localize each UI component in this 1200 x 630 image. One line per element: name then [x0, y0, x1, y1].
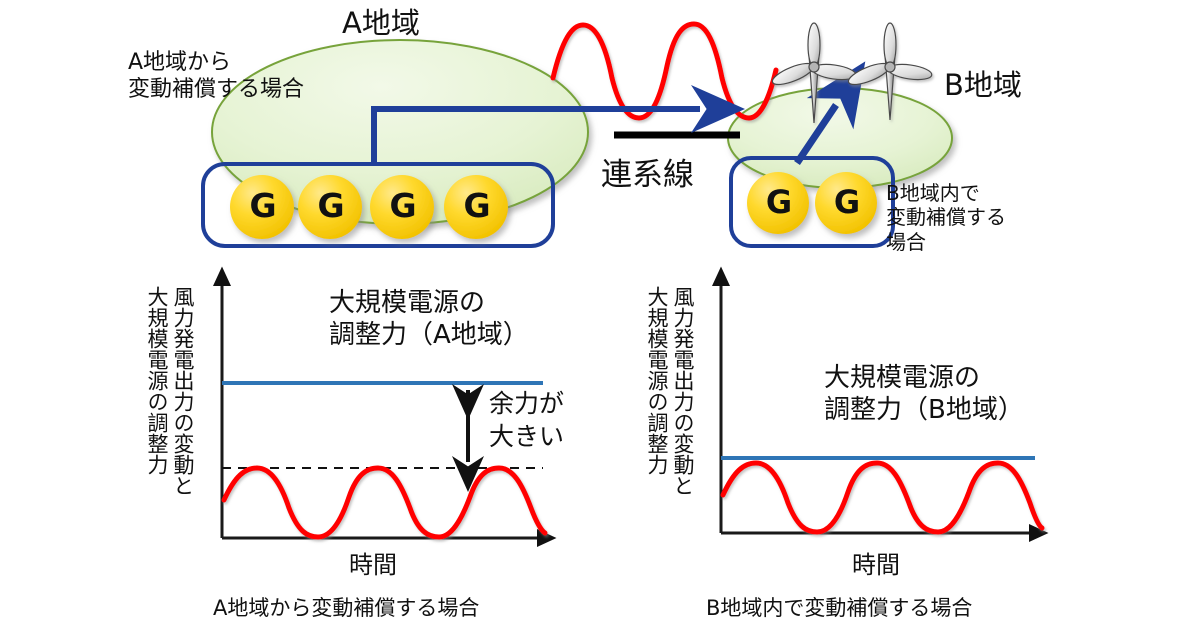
- chart-b-x-axis-label: 時間: [852, 551, 900, 580]
- chart-b-title: 大規模電源の 調整力（B地域）: [824, 363, 1024, 426]
- chart-b-y-axis-label-col1: 風力発電出力の変動と: [672, 286, 694, 496]
- chart-b-layer: [0, 0, 1200, 630]
- chart-b-wind-output-curve: [723, 463, 1042, 532]
- diagram-canvas: G G G G G G A地域 B地域 A地域から 変動補償する場合 B地域内で…: [0, 0, 1200, 630]
- chart-b-y-axis-label-col2: 大規模電源の調整力: [646, 286, 668, 475]
- chart-b-caption: B地域内で変動補償する場合: [706, 596, 972, 622]
